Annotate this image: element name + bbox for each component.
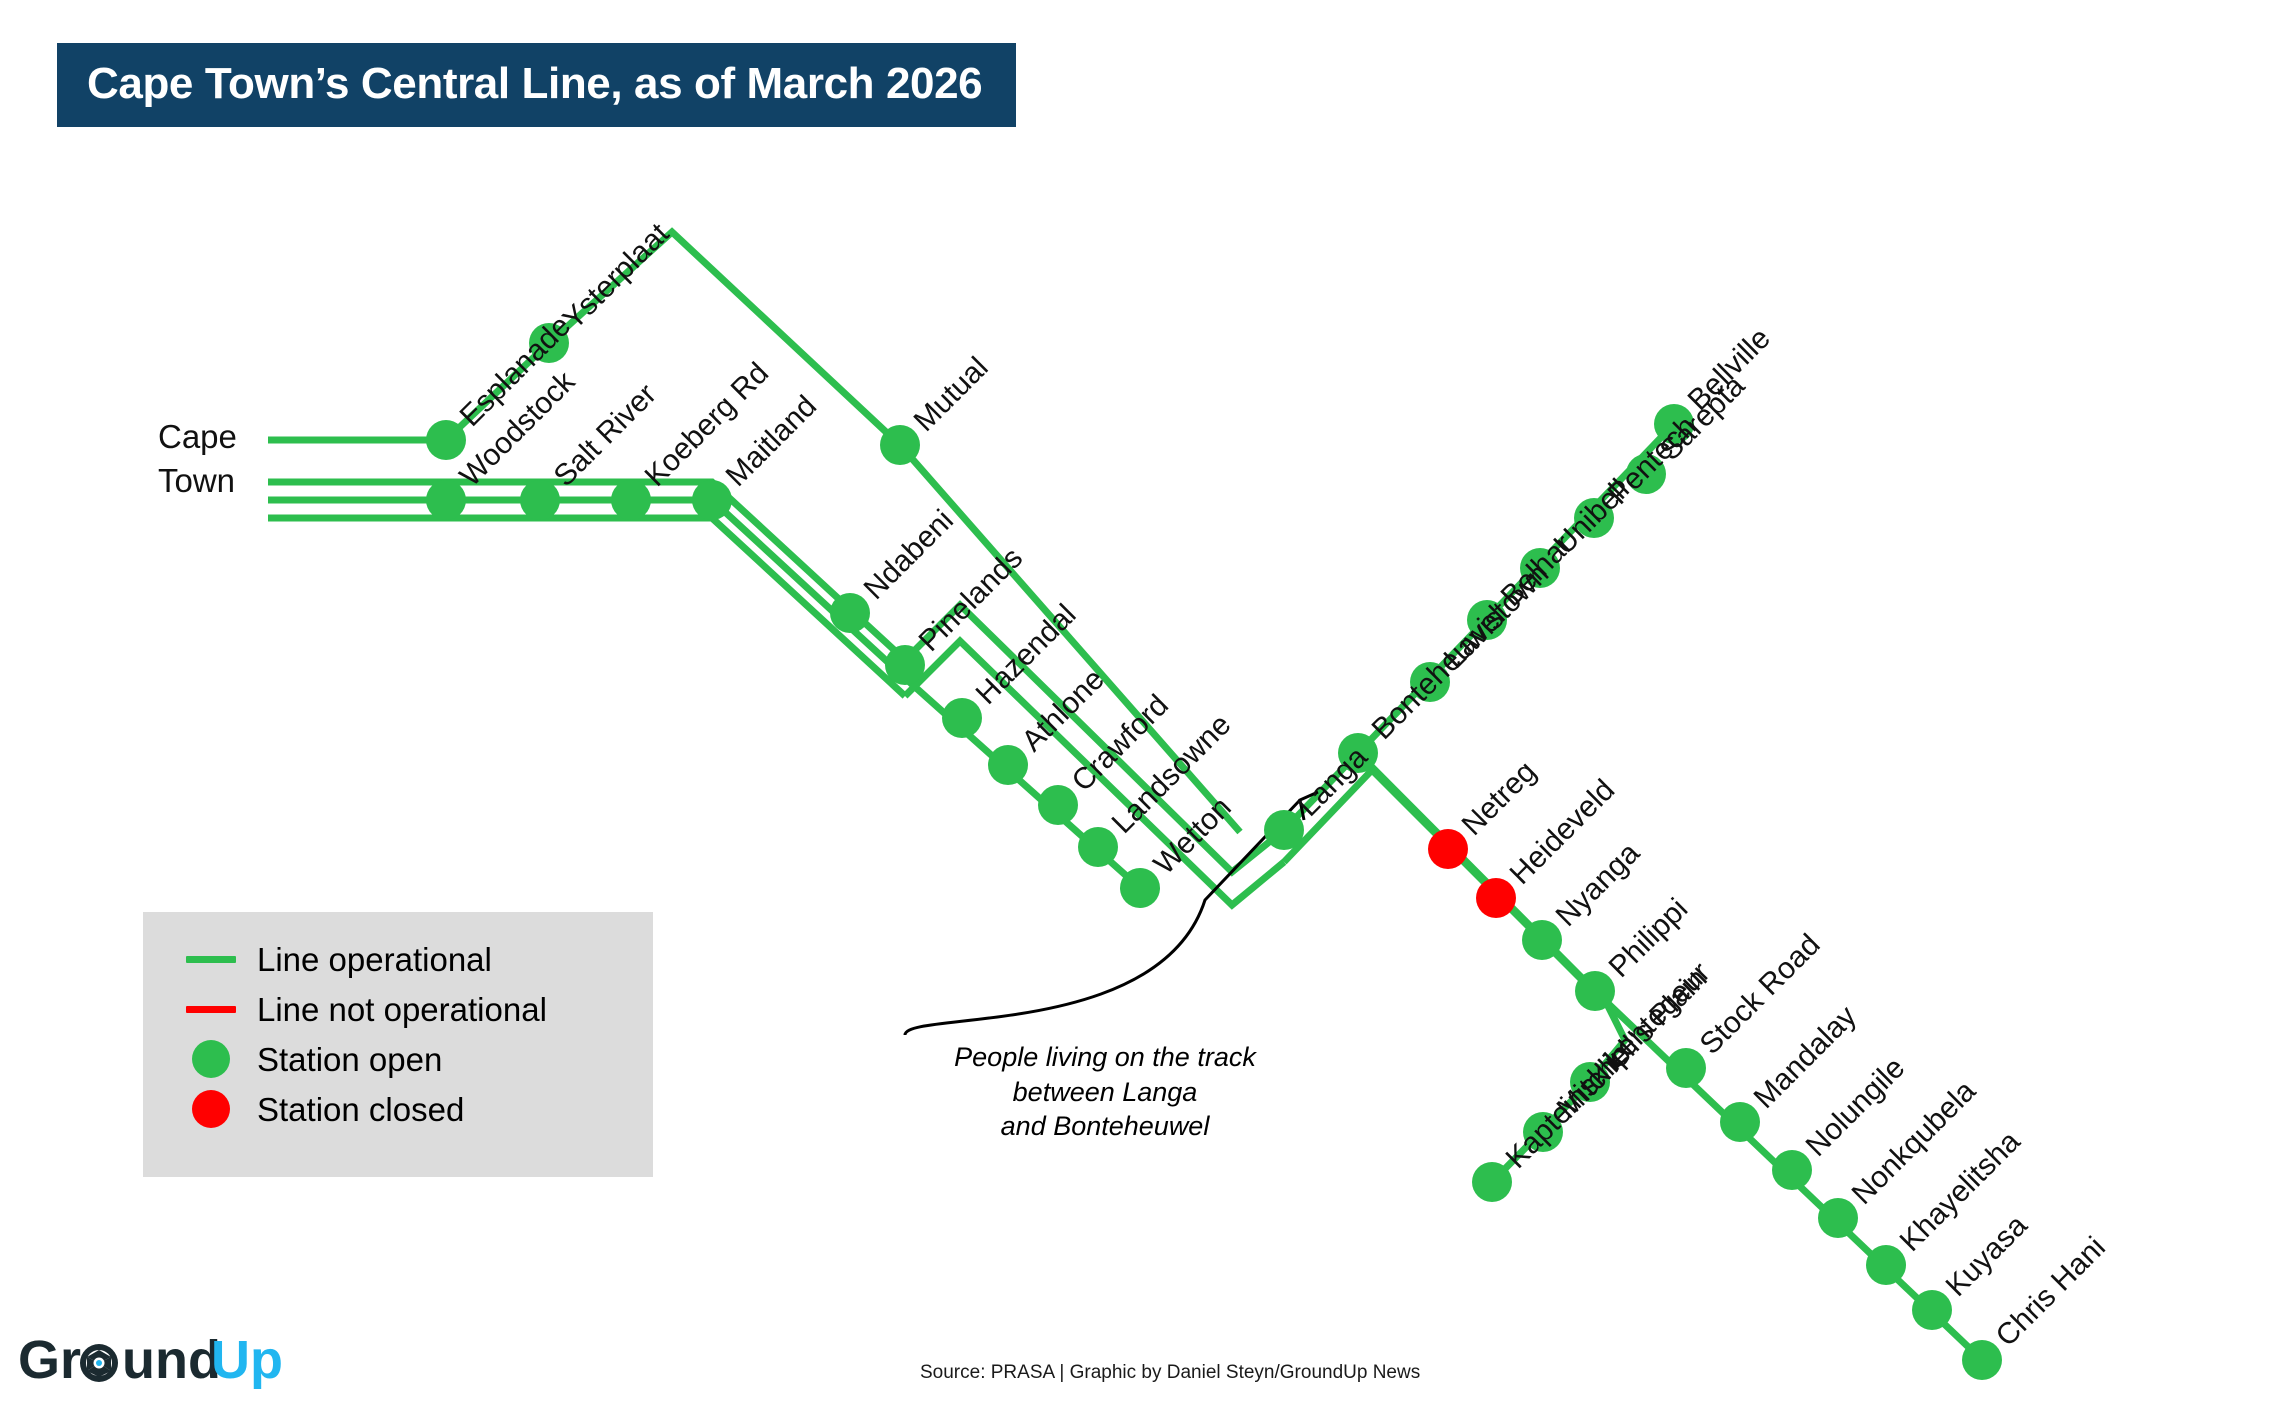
legend-line-green-icon xyxy=(181,956,241,963)
station-dot[interactable] xyxy=(1720,1102,1760,1142)
aperture-icon xyxy=(80,1344,118,1382)
station-dot[interactable] xyxy=(1818,1198,1858,1238)
legend-dot-red-icon xyxy=(181,1090,241,1128)
legend-item-line-operational: Line operational xyxy=(181,934,653,984)
station-dot[interactable] xyxy=(520,480,560,520)
title-banner: Cape Town’s Central Line, as of March 20… xyxy=(57,43,1016,127)
station-dot[interactable] xyxy=(880,425,920,465)
station-label: Mutual xyxy=(908,351,995,438)
station-label: Netreg xyxy=(1456,755,1543,842)
annotation-line-1: People living on the track xyxy=(905,1040,1305,1075)
logo-text-ground-part2: und xyxy=(122,1330,221,1390)
source-credit: Source: PRASA | Graphic by Daniel Steyn/… xyxy=(920,1362,1420,1384)
legend-label-line-not-operational: Line not operational xyxy=(257,993,547,1026)
station-dot[interactable] xyxy=(1078,827,1118,867)
station-dot[interactable] xyxy=(1038,785,1078,825)
station-dot[interactable] xyxy=(426,480,466,520)
legend-label-station-open: Station open xyxy=(257,1043,442,1076)
station-label: Kapteinsklip xyxy=(1500,1037,1638,1175)
groundup-logo: Gr und Up xyxy=(18,1330,286,1397)
legend-dot-green-icon xyxy=(181,1040,241,1078)
station-label: Kuyasa xyxy=(1940,1209,2034,1303)
transit-map-graphic: EsplanadeYsterplaatWoodstockSalt RiverKo… xyxy=(0,0,2280,1410)
legend-item-station-closed: Station closed xyxy=(181,1084,653,1134)
legend-label-station-closed: Station closed xyxy=(257,1093,464,1126)
terminus-label-cape: Cape xyxy=(158,418,237,455)
station-dot[interactable] xyxy=(1472,1162,1512,1202)
station-label: Pinelands xyxy=(913,541,1030,658)
legend-line-red-icon xyxy=(181,1006,241,1013)
main-track-lower xyxy=(268,518,905,696)
station-dot[interactable] xyxy=(692,480,732,520)
station-dot[interactable] xyxy=(1866,1245,1906,1285)
station-dot[interactable] xyxy=(611,480,651,520)
terminus-label-town: Town xyxy=(158,462,235,499)
station-dot[interactable] xyxy=(1575,971,1615,1011)
station-dot[interactable] xyxy=(1912,1290,1952,1330)
main-track-upper xyxy=(268,482,905,660)
legend-box: Line operational Line not operational St… xyxy=(143,912,653,1177)
legend-label-line-operational: Line operational xyxy=(257,943,492,976)
annotation-line-2: between Langa xyxy=(905,1075,1305,1110)
station-labels-group: EsplanadeYsterplaatWoodstockSalt RiverKo… xyxy=(454,217,2112,1353)
station-dot[interactable] xyxy=(942,698,982,738)
station-label: Ndabeni xyxy=(858,504,960,606)
line-esplanade-branch xyxy=(268,232,1240,832)
logo-text-up: Up xyxy=(211,1330,283,1390)
station-dot[interactable] xyxy=(1264,810,1304,850)
station-dot[interactable] xyxy=(830,593,870,633)
legend-item-line-not-operational: Line not operational xyxy=(181,984,653,1034)
station-dot[interactable] xyxy=(988,745,1028,785)
main-track-middle xyxy=(268,500,905,678)
page-title: Cape Town’s Central Line, as of March 20… xyxy=(87,61,982,107)
station-dot[interactable] xyxy=(1120,868,1160,908)
station-label: Ysterplaat xyxy=(557,217,676,336)
station-dot[interactable] xyxy=(1772,1150,1812,1190)
station-dot[interactable] xyxy=(885,645,925,685)
station-dot[interactable] xyxy=(1428,829,1468,869)
annotation-line-3: and Bonteheuwel xyxy=(905,1109,1305,1144)
legend-item-station-open: Station open xyxy=(181,1034,653,1084)
logo-text-ground-part1: Gr xyxy=(18,1330,81,1390)
station-dot[interactable] xyxy=(1476,878,1516,918)
station-dot[interactable] xyxy=(1522,920,1562,960)
station-dot[interactable] xyxy=(426,420,466,460)
station-dot[interactable] xyxy=(1962,1340,2002,1380)
transit-map-svg: EsplanadeYsterplaatWoodstockSalt RiverKo… xyxy=(0,0,2280,1410)
station-dot[interactable] xyxy=(1666,1048,1706,1088)
track-annotation: People living on the track between Langa… xyxy=(905,1040,1305,1144)
